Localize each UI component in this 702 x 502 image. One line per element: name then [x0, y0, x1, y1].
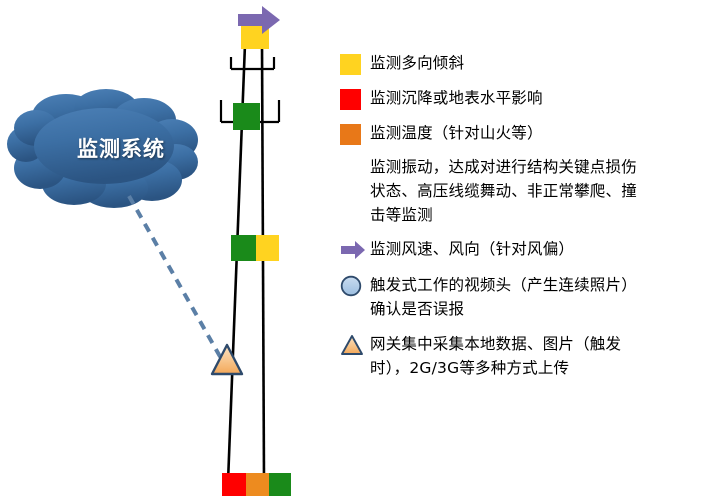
- cloud-gateway-dashed-link: [129, 196, 222, 360]
- legend-item-tilt: 监测多向倾斜: [340, 52, 700, 76]
- node-base-temperature: [246, 473, 269, 496]
- tower-cross-arm-upper: [231, 57, 274, 69]
- node-upper-vibration: [233, 103, 260, 130]
- legend-item-temperature-label: 监测温度（针对山火等）: [370, 122, 543, 145]
- red-square-icon: [340, 87, 370, 111]
- purple-arrow-icon: [340, 238, 370, 262]
- legend-item-tilt-label: 监测多向倾斜: [370, 52, 464, 75]
- legend-item-settlement: 监测沉降或地表水平影响: [340, 87, 700, 111]
- orange-triangle-icon: [340, 332, 370, 356]
- legend-item-vibration-label: 监测振动，达成对进行结构关键点损伤 状态、高压线缆舞动、非正常攀爬、撞 击等监测: [370, 155, 637, 227]
- node-mid-tilt: [256, 235, 279, 261]
- legend-item-temperature: 监测温度（针对山火等）: [340, 122, 700, 146]
- node-base-settlement: [222, 473, 246, 496]
- yellow-square-icon: [340, 52, 370, 76]
- node-base-vibration: [269, 473, 291, 496]
- legend-item-vibration: 监测振动，达成对进行结构关键点损伤 状态、高压线缆舞动、非正常攀爬、撞 击等监测: [340, 155, 700, 227]
- transmission-tower: [0, 0, 351, 502]
- orange-square-icon: [340, 122, 370, 146]
- legend-item-wind-label: 监测风速、风向（针对风偏）: [370, 238, 574, 261]
- legend-item-gateway-label: 网关集中采集本地数据、图片（触发 时），2G/3G等多种方式上传: [370, 332, 621, 380]
- node-mid-vibration: [231, 235, 256, 261]
- tower-leg-right: [262, 44, 264, 482]
- blue-circle-icon: [340, 273, 370, 297]
- legend-item-camera: 触发式工作的视频头（产生连续照片） 确认是否误报: [340, 273, 700, 321]
- legend-item-wind: 监测风速、风向（针对风偏）: [340, 238, 700, 262]
- legend: 监测多向倾斜 监测沉降或地表水平影响 监测温度（针对山火等） 监测: [340, 52, 700, 391]
- no-icon-spacer: [340, 155, 370, 179]
- legend-item-settlement-label: 监测沉降或地表水平影响: [370, 87, 543, 110]
- legend-item-camera-label: 触发式工作的视频头（产生连续照片） 确认是否误报: [370, 273, 637, 321]
- diagram-canvas: 监测系统: [0, 0, 702, 502]
- legend-item-gateway: 网关集中采集本地数据、图片（触发 时），2G/3G等多种方式上传: [340, 332, 700, 380]
